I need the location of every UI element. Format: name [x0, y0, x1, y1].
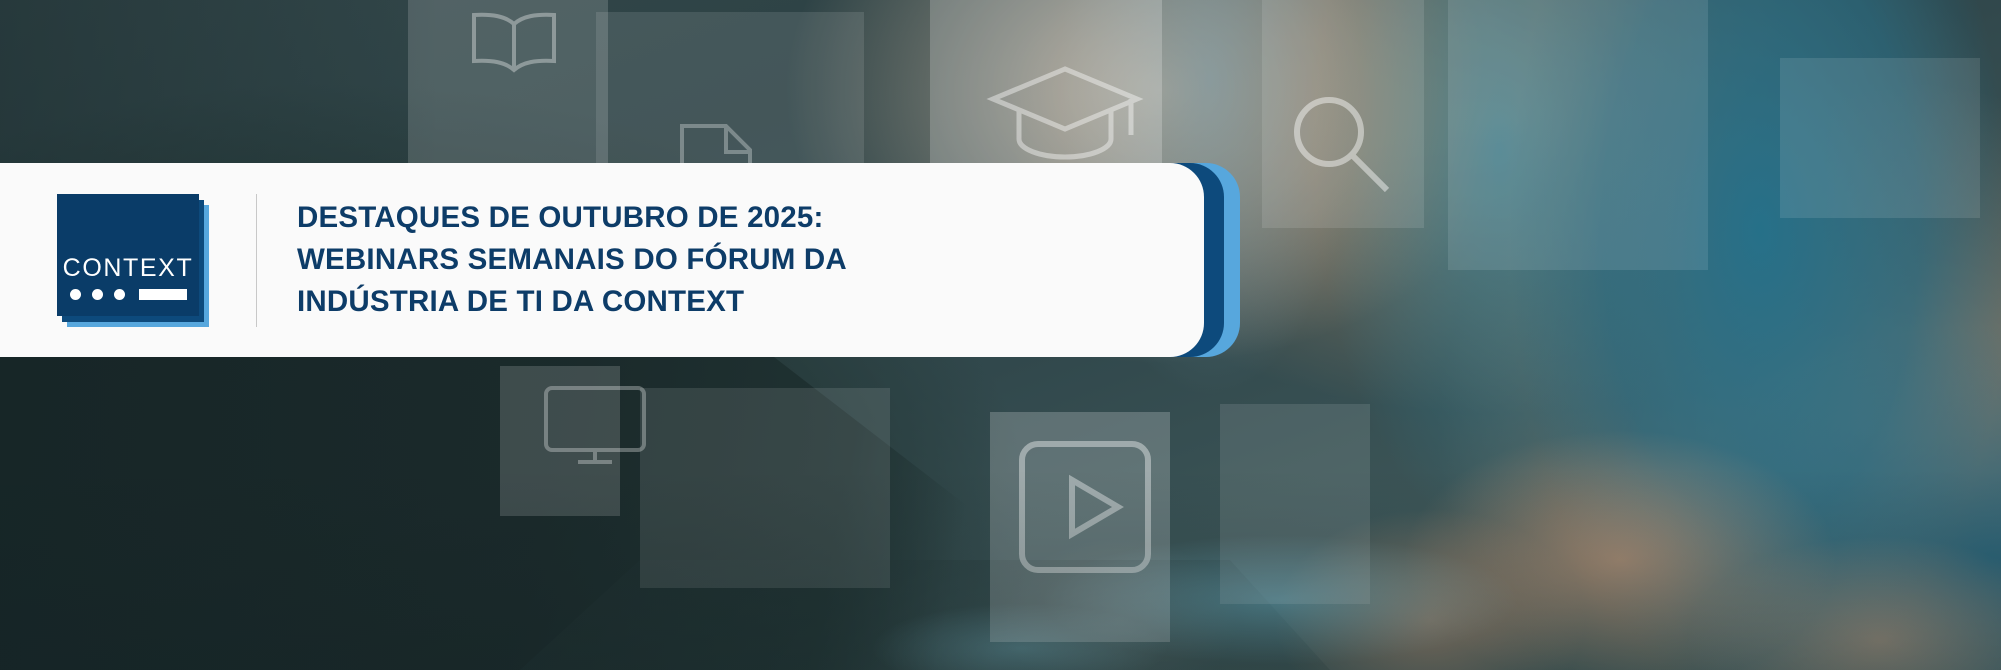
logo-wordmark: CONTEXT — [63, 256, 194, 281]
hero-card: CONTEXT DESTAQUES DE OUTUBRO DE 2025: WE… — [0, 163, 1240, 357]
logo-tile: CONTEXT — [57, 194, 199, 316]
title-line-3: CONTEXT — [602, 285, 744, 318]
context-logo[interactable]: CONTEXT — [57, 194, 209, 327]
logo-dot-3 — [114, 289, 125, 300]
vertical-divider — [256, 194, 257, 327]
page-title: DESTAQUES DE OUTUBRO DE 2025: WEBINARS S… — [297, 197, 977, 323]
hero-banner: CONTEXT DESTAQUES DE OUTUBRO DE 2025: WE… — [0, 0, 2001, 670]
logo-dot-1 — [70, 289, 81, 300]
logo-bar — [139, 289, 187, 300]
logo-marks — [70, 289, 187, 300]
logo-dot-2 — [92, 289, 103, 300]
